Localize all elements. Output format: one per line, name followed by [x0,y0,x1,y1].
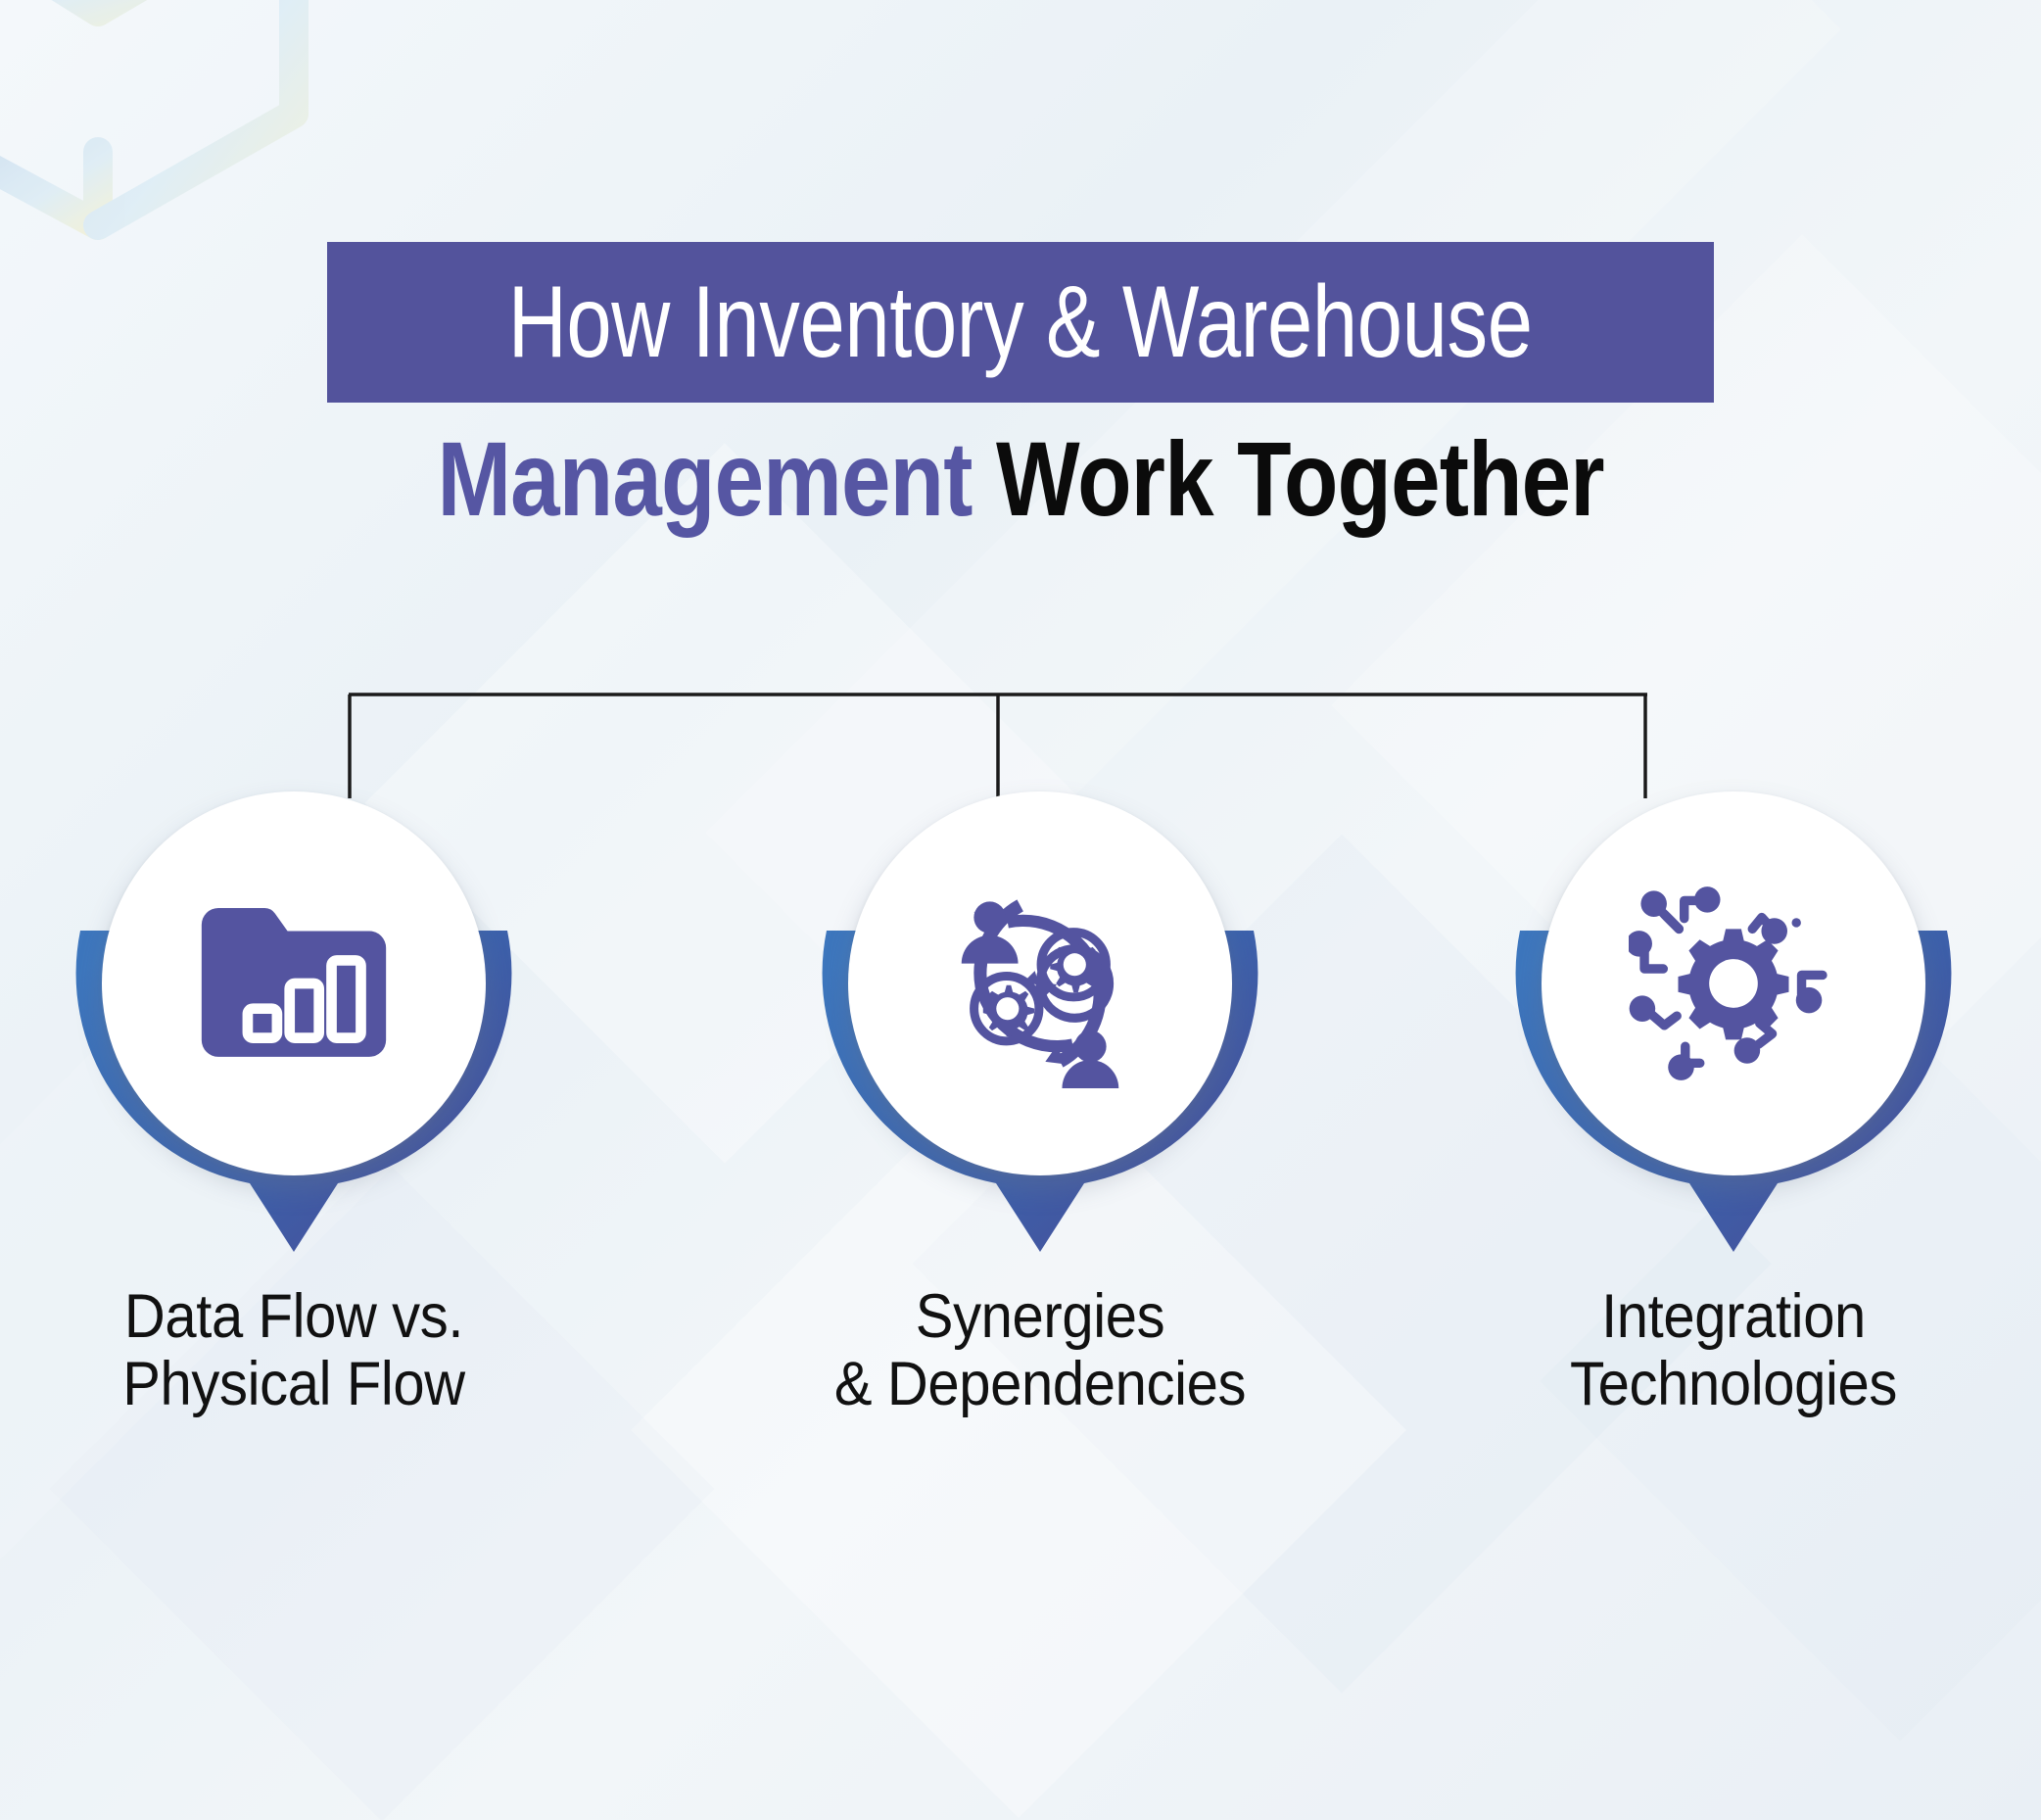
step-label-2-line1: Synergies [787,1283,1292,1351]
steps-row: Data Flow vs. Physical Flow [0,774,2041,1460]
step-label-1-line2: Physical Flow [41,1351,546,1418]
step-label-3-line2: Technologies [1481,1351,1985,1418]
title-highlight-word: Management [437,419,972,538]
folder-bar-chart-icon [189,879,399,1088]
pin-circle-1 [102,791,486,1175]
pin-circle-2 [848,791,1232,1175]
step-item-3[interactable]: Integration Technologies [1459,774,2008,1460]
step-label-2-line2: & Dependencies [787,1351,1292,1418]
title-subline: Management Work Together [0,416,2041,541]
step-label-1-line1: Data Flow vs. [41,1283,546,1351]
title-banner-text: How Inventory & Warehouse [508,271,1533,373]
step-item-2[interactable]: Synergies & Dependencies [766,774,1314,1460]
step-label-2: Synergies & Dependencies [766,1283,1314,1419]
step-item-1[interactable]: Data Flow vs. Physical Flow [20,774,568,1460]
step-label-3-line1: Integration [1481,1283,1985,1351]
pin-circle-3 [1542,791,1925,1175]
title-rest-words: Work Together [996,419,1604,538]
people-gears-cycle-icon [935,879,1145,1088]
gear-network-nodes-icon [1629,879,1838,1088]
title-banner: How Inventory & Warehouse [327,242,1714,403]
step-label-1: Data Flow vs. Physical Flow [20,1283,568,1419]
step-label-3: Integration Technologies [1459,1283,2008,1419]
